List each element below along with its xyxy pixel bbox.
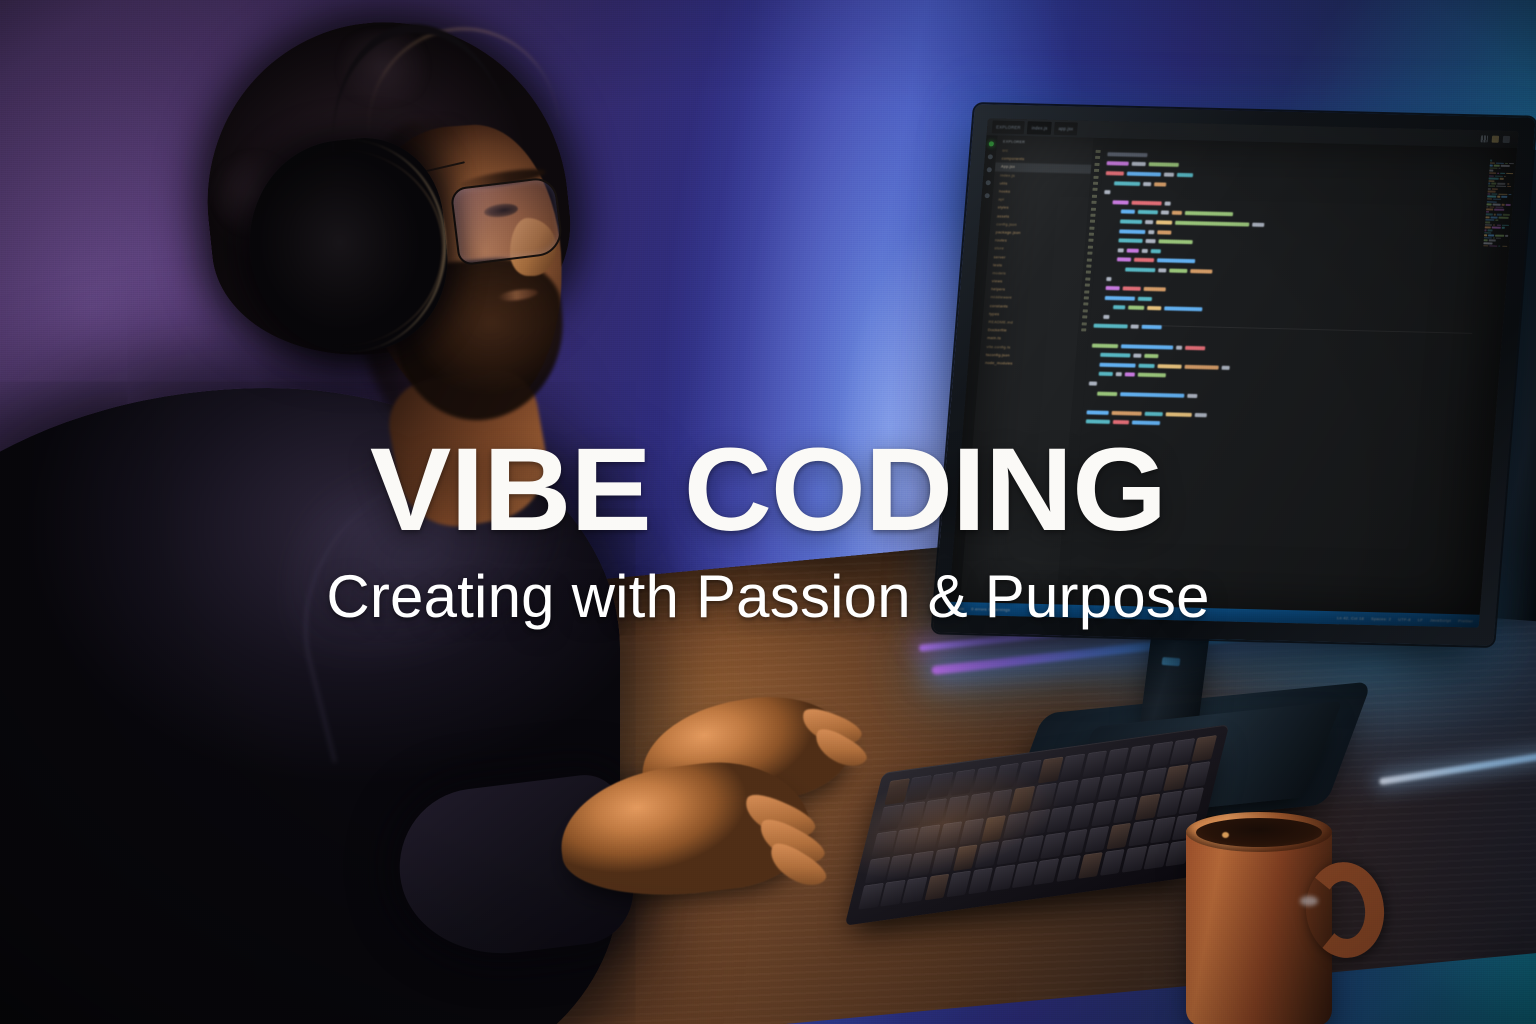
open-preview-icon[interactable]	[1492, 136, 1500, 143]
minimap-token	[1484, 237, 1492, 239]
minimap-token	[1487, 201, 1497, 203]
eyeglasses-lens	[450, 176, 565, 266]
line-number	[1084, 296, 1089, 299]
minimap-token	[1489, 245, 1497, 247]
tab-explorer-label: EXPLORER	[992, 120, 1026, 134]
line-number	[1093, 182, 1098, 185]
line-number	[1091, 207, 1096, 210]
code-token	[1132, 162, 1146, 166]
line-number	[1090, 214, 1095, 217]
minimap-token	[1492, 193, 1498, 195]
code-token	[1143, 182, 1151, 186]
code-token	[1145, 239, 1155, 243]
minimap-token	[1502, 204, 1505, 206]
code-token	[1131, 200, 1161, 205]
minimap-token	[1494, 209, 1504, 211]
code-token	[1113, 420, 1129, 424]
code-token	[1187, 393, 1197, 397]
line-number	[1088, 245, 1093, 248]
code-token	[1105, 286, 1119, 290]
code-token	[1120, 219, 1142, 224]
line-number	[1083, 303, 1088, 306]
code-area[interactable]	[1067, 138, 1517, 615]
minimap-token	[1489, 178, 1499, 180]
code-token	[1138, 373, 1166, 378]
code-token	[1118, 248, 1124, 252]
minimap-token	[1489, 170, 1493, 172]
line-number	[1089, 226, 1094, 229]
code-token	[1093, 324, 1127, 329]
monitor-screen[interactable]: EXPLORER index.js app.jsx	[948, 118, 1519, 627]
minimap-token	[1487, 193, 1490, 195]
editor-toolbar[interactable]	[1481, 135, 1514, 143]
minimap-token	[1489, 240, 1496, 242]
code-token	[1121, 210, 1135, 214]
minimap-token	[1496, 186, 1506, 188]
line-number	[1083, 309, 1088, 312]
minimap-token	[1487, 203, 1492, 205]
line-number	[1089, 233, 1094, 236]
line-number	[1082, 316, 1087, 319]
code-token	[1104, 190, 1110, 194]
code-token	[1105, 296, 1135, 301]
code-token	[1113, 305, 1125, 309]
line-number	[1085, 284, 1090, 287]
minimap-token	[1498, 183, 1506, 185]
minimap-token	[1488, 180, 1494, 182]
code-token	[1099, 363, 1135, 368]
minimap-token	[1502, 227, 1505, 229]
minimap-token	[1499, 193, 1507, 195]
code-token	[1116, 373, 1122, 377]
tab-index-js-label: index.js	[1027, 121, 1052, 135]
line-number	[1092, 188, 1097, 191]
explorer-file-item[interactable]: node_modules	[985, 359, 1076, 369]
code-token	[1138, 364, 1154, 368]
code-token	[1145, 412, 1163, 416]
statusbar-branch[interactable]: main	[954, 606, 964, 611]
code-token	[1086, 410, 1108, 415]
code-token	[1142, 249, 1148, 253]
minimap-token	[1483, 242, 1492, 244]
code-token	[1100, 353, 1130, 358]
minimap-token	[1491, 217, 1498, 219]
head	[198, 22, 598, 452]
statusbar-indentation[interactable]: Spaces: 2	[1371, 616, 1391, 621]
minimap-line	[1483, 245, 1507, 248]
minimap-token	[1505, 162, 1508, 164]
code-token	[1172, 211, 1182, 215]
minimap-token	[1503, 214, 1510, 216]
minimap-token	[1485, 227, 1491, 229]
minimap-token	[1504, 175, 1506, 177]
code-token	[1164, 173, 1174, 177]
mug-highlight	[1300, 896, 1318, 906]
code-token	[1169, 268, 1187, 272]
minimap-token	[1485, 222, 1490, 224]
explorer-header: EXPLORER	[1003, 140, 1093, 146]
line-number	[1092, 194, 1097, 197]
search-icon[interactable]	[988, 154, 993, 159]
code-token	[1103, 315, 1109, 319]
minimap-token	[1508, 194, 1511, 196]
minimap-token	[1499, 217, 1509, 219]
minimap-token	[1488, 235, 1494, 237]
minimap-token	[1491, 183, 1496, 185]
code-token	[1128, 306, 1144, 310]
line-number	[1081, 328, 1086, 331]
code-token	[1106, 162, 1128, 167]
code-token	[1106, 277, 1111, 281]
line-number	[1082, 322, 1087, 325]
code-token	[1148, 230, 1154, 234]
tab-index-js[interactable]: index.js	[1027, 121, 1052, 135]
code-token	[1121, 344, 1173, 349]
code-token	[1157, 230, 1171, 234]
code-token	[1120, 392, 1184, 398]
minimap-token	[1505, 204, 1510, 206]
minimap-token	[1490, 165, 1493, 167]
code-token	[1127, 248, 1139, 252]
minimap-token	[1494, 214, 1496, 216]
minimap-token	[1484, 240, 1488, 242]
tab-app-jsx-label: app.jsx	[1054, 122, 1078, 136]
code-token	[1138, 210, 1158, 214]
code-token	[1106, 171, 1124, 175]
explorer-icon[interactable]	[989, 141, 994, 146]
minimap-token	[1497, 214, 1502, 216]
minimap-token	[1492, 227, 1501, 229]
minimap-token	[1497, 224, 1502, 226]
minimap-token	[1488, 188, 1491, 190]
code-token	[1184, 365, 1218, 370]
minimap-token	[1488, 183, 1490, 185]
minimap-token	[1502, 245, 1507, 247]
extensions-icon[interactable]	[984, 193, 989, 198]
minimap-token	[1495, 235, 1504, 237]
statusbar-problems[interactable]: 0 errors 0 warnings	[971, 606, 1010, 612]
minimap-token	[1489, 167, 1497, 169]
minimap-token	[1509, 163, 1514, 165]
line-number	[1094, 163, 1099, 166]
code-token	[1158, 239, 1192, 244]
minimap-token	[1507, 186, 1511, 188]
minimap-token	[1497, 173, 1499, 175]
minimap-token	[1493, 198, 1501, 200]
statusbar-language-mode[interactable]: JavaScript	[1430, 617, 1452, 623]
tab-explorer[interactable]: EXPLORER	[992, 120, 1026, 134]
minimap-token	[1496, 237, 1501, 239]
code-token	[1185, 211, 1233, 216]
code-token	[1092, 343, 1118, 348]
line-number	[1093, 175, 1098, 178]
minimap-token	[1489, 172, 1496, 174]
minimap-token	[1486, 211, 1489, 213]
minimap-token	[1486, 206, 1488, 208]
code-token	[1099, 372, 1113, 376]
code-token	[1252, 223, 1264, 227]
minimap-token	[1488, 191, 1496, 193]
more-actions-icon[interactable]	[1503, 136, 1511, 143]
minimap-token	[1484, 232, 1491, 234]
minimap-token	[1485, 224, 1492, 226]
code-token	[1190, 269, 1212, 274]
line-number	[1084, 290, 1089, 293]
line-number	[1095, 150, 1100, 153]
code-token	[1097, 391, 1117, 395]
code-token	[1164, 307, 1202, 312]
code-token	[1114, 181, 1140, 186]
line-number	[1090, 220, 1095, 223]
code-token	[1161, 211, 1169, 215]
minimap-token	[1497, 196, 1500, 198]
mug-interior	[1196, 818, 1322, 847]
statusbar-eol[interactable]: LF	[1418, 617, 1424, 622]
minimap-token	[1489, 175, 1494, 177]
code-token	[1123, 286, 1141, 290]
code-token	[1127, 172, 1161, 177]
split-editor-icon[interactable]	[1481, 135, 1489, 142]
code-token	[1112, 200, 1128, 204]
minimap-token	[1486, 214, 1493, 216]
code-token	[1185, 346, 1205, 350]
minimap-token	[1484, 235, 1487, 237]
code-token	[1147, 306, 1161, 310]
minimap-token	[1487, 196, 1496, 198]
code-token	[1175, 221, 1249, 227]
code-token	[1144, 354, 1158, 358]
minimap-token	[1484, 229, 1486, 231]
code-token	[1119, 229, 1145, 234]
code-token	[1157, 259, 1195, 264]
code-token	[1177, 173, 1193, 177]
line-number	[1091, 201, 1096, 204]
line-number	[1086, 265, 1091, 268]
minimap-token	[1501, 165, 1510, 167]
code-token	[1158, 268, 1166, 272]
minimap-token	[1493, 237, 1495, 239]
minimap-token	[1490, 162, 1495, 164]
tab-app-jsx[interactable]: app.jsx	[1054, 122, 1078, 136]
code-token	[1134, 258, 1154, 262]
minimap-token	[1496, 206, 1504, 208]
minimap-token	[1483, 245, 1488, 247]
code-token	[1125, 267, 1155, 272]
line-number	[1088, 239, 1093, 242]
minimap-token	[1501, 173, 1506, 175]
minimap-token	[1487, 198, 1492, 200]
code-token	[1221, 366, 1229, 370]
minimap-token	[1502, 196, 1508, 198]
code-token	[1138, 296, 1152, 300]
code-token	[1117, 258, 1131, 262]
minimap-token	[1488, 185, 1495, 187]
code-token	[1089, 381, 1097, 385]
minimap-token	[1499, 168, 1501, 170]
minimap-token	[1500, 178, 1504, 180]
minimap-token	[1485, 219, 1494, 221]
minimap-token	[1490, 160, 1492, 162]
line-number	[1095, 156, 1100, 159]
minimap-token	[1486, 209, 1493, 211]
code-token	[1133, 354, 1141, 358]
minimap-token	[1494, 165, 1500, 167]
code-token	[1107, 152, 1147, 157]
minimap-token	[1495, 175, 1503, 177]
code-token	[1166, 412, 1192, 417]
minimap-token	[1496, 162, 1503, 164]
statusbar-formatter[interactable]: Prettier	[1458, 618, 1473, 623]
minimap-token	[1488, 229, 1493, 231]
statusbar-right-group[interactable]: Ln 42, Col 18 Spaces: 2 UTF-8 LF JavaScr…	[1337, 615, 1474, 623]
minimap-token	[1505, 235, 1508, 237]
code-token	[1195, 413, 1207, 417]
minimap-token	[1493, 224, 1496, 226]
line-number	[1086, 271, 1091, 274]
line-number	[1094, 169, 1099, 172]
line-number	[1087, 252, 1092, 255]
mug-rim-highlight	[1222, 832, 1229, 838]
minimap-token	[1502, 225, 1509, 227]
code-token	[1151, 249, 1161, 253]
minimap-token	[1507, 183, 1509, 185]
code-token	[1125, 373, 1135, 377]
code-token	[1086, 420, 1110, 425]
statusbar-cursor-position[interactable]: Ln 42, Col 18	[1337, 615, 1364, 621]
statusbar-encoding[interactable]: UTF-8	[1398, 617, 1411, 622]
code-token	[1149, 163, 1179, 168]
code-token	[1156, 220, 1172, 224]
code-token	[1176, 345, 1182, 349]
debug-icon[interactable]	[986, 180, 991, 185]
minimap-token	[1506, 173, 1513, 175]
code-token	[1164, 201, 1170, 205]
monitor: EXPLORER index.js app.jsx	[932, 104, 1535, 646]
code-token	[1144, 287, 1166, 292]
source-control-icon[interactable]	[987, 167, 992, 172]
line-number	[1087, 258, 1092, 261]
minimap-token	[1499, 245, 1501, 247]
hero-banner: EXPLORER index.js app.jsx	[0, 0, 1536, 1024]
minimap-token	[1486, 216, 1490, 218]
editor-body: EXPLORER srccomponentsApp.jsxindex.jsuti…	[949, 135, 1517, 614]
minimap-token	[1492, 188, 1498, 190]
code-token	[1145, 220, 1153, 224]
minimap-token	[1490, 206, 1495, 208]
minimap-token	[1496, 219, 1499, 221]
minimap-token	[1493, 204, 1501, 206]
line-number	[1085, 277, 1090, 280]
code-token	[1154, 182, 1166, 186]
code-token	[1132, 421, 1160, 426]
code-token	[1118, 238, 1142, 243]
code-token	[1112, 411, 1142, 416]
code-token	[1157, 364, 1181, 369]
